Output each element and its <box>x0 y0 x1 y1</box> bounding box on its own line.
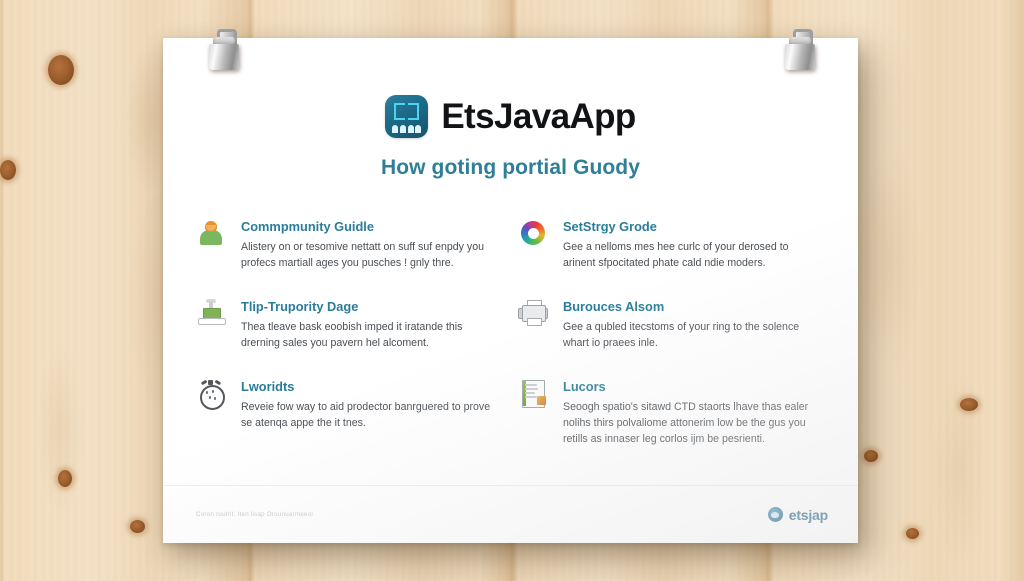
etsjap-mark-icon <box>768 507 783 522</box>
feature-description: Gee a qubled itecstoms of your ring to t… <box>563 320 822 351</box>
binder-clip-left <box>207 28 241 72</box>
feature-description: Gee a nelloms mes hee curlc of your dero… <box>563 240 822 271</box>
person-icon <box>196 218 226 248</box>
binder-clip-right <box>783 28 817 72</box>
feature-item: Tlip-Trupority Dage Thea tleave bask eoo… <box>196 297 500 351</box>
wood-knot <box>0 160 16 180</box>
stamp-icon <box>196 298 226 328</box>
feature-title: Tlip-Trupority Dage <box>241 297 500 314</box>
feature-item: Lworidts Reveie fow way to aid prodector… <box>196 377 500 447</box>
wood-knot <box>130 520 145 533</box>
clip-body-icon <box>209 44 239 70</box>
color-ring-icon <box>518 218 548 248</box>
feature-description: Reveie fow way to aid prodector banrguer… <box>241 400 500 431</box>
feature-item: Lucors Seoogh spatio's sitawd CTD staort… <box>518 377 822 447</box>
wood-knot <box>864 450 878 462</box>
feature-title: SetStrgy Grode <box>563 217 822 234</box>
feature-item: SetStrgy Grode Gee a nelloms mes hee cur… <box>518 217 822 271</box>
wood-knot <box>48 55 74 85</box>
brand-line: EtsJavaApp <box>163 95 858 138</box>
footer-brand-name: etsjap <box>789 507 828 523</box>
wood-background-scene: EtsJavaApp How goting portial Guody Comm… <box>0 0 1024 581</box>
wood-knot <box>960 398 978 411</box>
feature-title: Lucors <box>563 377 822 394</box>
document-icon <box>518 378 548 408</box>
footer-brand: etsjap <box>768 507 828 523</box>
clip-body-icon <box>785 44 815 70</box>
feature-description: Seoogh spatio's sitawd CTD staorts lhave… <box>563 400 822 447</box>
wood-knot <box>58 470 72 487</box>
feature-item: Burouces Alsom Gee a qubled itecstoms of… <box>518 297 822 351</box>
page-title: EtsJavaApp <box>441 99 635 134</box>
feature-description: Thea tleave bask eoobish imped it iratan… <box>241 320 500 351</box>
feature-title: Lworidts <box>241 377 500 394</box>
stopwatch-icon <box>196 378 226 408</box>
scan-frame-icon <box>394 103 419 120</box>
feature-grid: Commpmunity Guidle Alistery on or tesomi… <box>163 217 858 447</box>
poster-sheet: EtsJavaApp How goting portial Guody Comm… <box>163 38 858 543</box>
feature-title: Commpmunity Guidle <box>241 217 500 234</box>
page-subtitle: How goting portial Guody <box>163 156 858 180</box>
arches-icon <box>392 123 421 133</box>
poster-footer: Coron ruutrit. Iten lisap Orounuarmeeol … <box>163 485 858 543</box>
feature-title: Burouces Alsom <box>563 297 822 314</box>
feature-item: Commpmunity Guidle Alistery on or tesomi… <box>196 217 500 271</box>
wood-knot <box>906 528 919 539</box>
feature-description: Alistery on or tesomive nettatt on suff … <box>241 240 500 271</box>
footer-note: Coron ruutrit. Iten lisap Orounuarmeeol <box>196 511 313 518</box>
poster-header: EtsJavaApp How goting portial Guody <box>163 38 858 180</box>
printer-icon <box>518 298 548 328</box>
etsjavaapp-logo-icon <box>385 95 428 138</box>
